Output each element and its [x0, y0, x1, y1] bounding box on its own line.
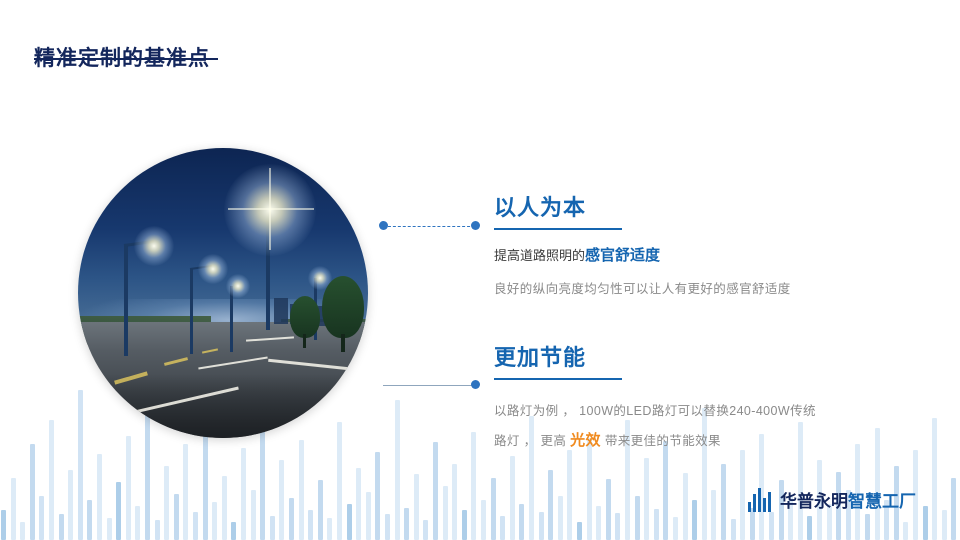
connector-dot-1b	[471, 221, 480, 230]
section-1: 以人为本 提高道路照明的感官舒适度 良好的纵向亮度均匀性可以让人有更好的感官舒适…	[494, 190, 791, 297]
decor-bar	[164, 466, 169, 540]
decor-bar	[875, 428, 880, 540]
connector-dot-1a	[379, 221, 388, 230]
decor-bar	[433, 442, 438, 540]
decor-bar	[347, 504, 352, 540]
decor-bar	[558, 496, 563, 540]
lamp-pole-1	[124, 244, 128, 356]
decor-bar	[721, 464, 726, 540]
logo-bars-icon	[748, 488, 774, 512]
section-1-body: 良好的纵向亮度均匀性可以让人有更好的感官舒适度	[494, 278, 791, 297]
decor-bar	[308, 510, 313, 540]
decor-bar	[673, 517, 678, 540]
section-1-subtitle-highlight: 感官舒适度	[585, 247, 660, 264]
decor-bar	[932, 418, 937, 540]
decor-bar	[654, 509, 659, 540]
section-1-subtitle-prefix: 提高道路照明的	[494, 248, 585, 263]
decor-bar	[942, 510, 947, 540]
decor-bar	[923, 506, 928, 540]
decor-bar	[251, 490, 256, 540]
decor-bar	[731, 519, 736, 540]
decor-bar	[395, 400, 400, 540]
decor-bar	[222, 476, 227, 540]
logo-text: 华普永明智慧工厂	[780, 487, 916, 512]
decor-bar	[279, 460, 284, 540]
decor-bar	[87, 500, 92, 540]
lamp-light-1	[134, 226, 174, 266]
decor-bar	[385, 514, 390, 540]
decor-bar	[414, 474, 419, 540]
section-2-underline	[494, 378, 622, 380]
decor-bar	[183, 444, 188, 540]
building-1	[274, 298, 288, 324]
lamp-pole-2	[190, 268, 193, 354]
decor-bar	[231, 522, 236, 540]
decor-bar	[462, 510, 467, 540]
decor-bar	[683, 473, 688, 540]
decor-bar	[606, 479, 611, 540]
section-1-subtitle: 提高道路照明的感官舒适度	[494, 244, 791, 265]
decor-bar	[596, 506, 601, 540]
decor-bar	[30, 444, 35, 540]
decor-bar	[548, 470, 553, 540]
section-2-line2-prefix: 路灯 ， 更高	[494, 434, 566, 448]
tree-1	[322, 276, 364, 338]
section-1-underline	[494, 228, 622, 230]
decor-bar	[366, 492, 371, 540]
decor-bar	[481, 500, 486, 540]
decor-bar	[903, 522, 908, 540]
decor-bar	[539, 512, 544, 540]
decor-bar	[769, 512, 774, 540]
tree-trunk-1	[341, 334, 345, 352]
decor-bar	[567, 450, 572, 540]
section-1-heading: 以人为本	[494, 190, 791, 222]
decor-bar	[500, 516, 505, 540]
decor-bar	[615, 513, 620, 540]
section-2-heading: 更加节能	[494, 340, 816, 372]
decor-bar	[59, 514, 64, 540]
decor-bar	[807, 516, 812, 540]
page-title-text: 精准定制的基准点	[34, 42, 210, 72]
page-title: 精准定制的基准点	[34, 42, 454, 68]
section-2: 更加节能 以路灯为例 ， 100W的LED路灯可以替换240-400W传统 路灯…	[494, 340, 816, 456]
decor-bar	[951, 478, 956, 540]
decor-bar	[452, 464, 457, 540]
decor-bar	[423, 520, 428, 540]
decor-bar	[116, 482, 121, 540]
decor-bar	[510, 456, 515, 540]
connector-dashed-line-1	[383, 226, 475, 227]
decor-bar	[39, 496, 44, 540]
decor-bar	[11, 478, 16, 540]
road-photo	[78, 148, 368, 438]
decor-bar	[174, 494, 179, 540]
decor-bar	[318, 480, 323, 540]
decor-bar	[635, 496, 640, 540]
decor-bar	[356, 468, 361, 540]
decor-bar	[135, 506, 140, 540]
decor-bar	[203, 430, 208, 540]
decor-bar	[299, 440, 304, 540]
decor-bar	[1, 510, 6, 540]
decor-bar	[663, 441, 668, 540]
decor-bar	[193, 512, 198, 540]
decor-bar	[337, 422, 342, 540]
section-2-line2-suffix: 带来更佳的节能效果	[605, 434, 721, 448]
decor-bar	[577, 522, 582, 540]
decor-bar	[750, 508, 755, 540]
decor-bar	[327, 518, 332, 540]
tree-2	[290, 296, 320, 338]
decor-bar	[471, 432, 476, 540]
lamp-light-3	[226, 274, 250, 298]
decor-bar	[107, 518, 112, 540]
section-2-body-line2: 路灯 ， 更高 光效 带来更佳的节能效果	[494, 426, 816, 456]
decor-bar	[241, 448, 246, 540]
decor-bar	[740, 450, 745, 540]
decor-bar	[20, 522, 25, 540]
road-shadow	[78, 374, 368, 438]
tree-trunk-2	[303, 334, 306, 348]
section-2-body: 以路灯为例 ， 100W的LED路灯可以替换240-400W传统 路灯 ， 更高…	[494, 396, 816, 456]
decor-bar	[491, 478, 496, 540]
decor-bar	[270, 516, 275, 540]
lamp-flare-v	[269, 168, 271, 250]
section-2-body-line1: 以路灯为例 ， 100W的LED路灯可以替换240-400W传统	[494, 396, 816, 426]
decor-bar	[519, 504, 524, 540]
decor-bar	[711, 490, 716, 540]
decor-bar	[404, 508, 409, 540]
connector-solid-line-2	[383, 385, 475, 386]
company-logo: 华普永明智慧工厂	[748, 487, 916, 512]
logo-suffix: 智慧工厂	[848, 492, 916, 511]
decor-bar	[68, 470, 73, 540]
lamp-flare-h	[228, 208, 314, 210]
decor-bar	[155, 520, 160, 540]
connector-dot-2	[471, 380, 480, 389]
decor-bar	[375, 452, 380, 540]
section-2-line2-highlight: 光效	[570, 432, 601, 449]
lamp-light-2	[198, 254, 228, 284]
decor-bar	[865, 514, 870, 540]
decor-bar	[97, 454, 102, 540]
decor-bar	[212, 502, 217, 540]
decor-bar	[443, 486, 448, 540]
decor-bar	[289, 498, 294, 540]
logo-brand: 华普永明	[780, 492, 848, 511]
decor-bar	[692, 500, 697, 540]
photo-inner	[78, 148, 368, 438]
decor-bar	[49, 420, 54, 540]
decor-bar	[126, 436, 131, 540]
decor-bar	[644, 458, 649, 540]
